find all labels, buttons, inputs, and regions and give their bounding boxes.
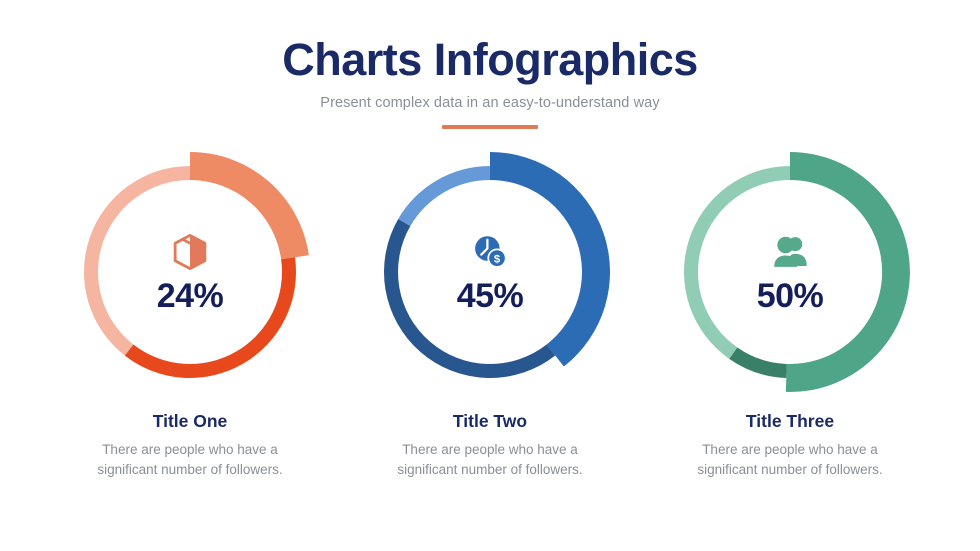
donut-segment-accent[interactable] bbox=[125, 258, 296, 379]
page-title: Charts Infographics bbox=[0, 36, 980, 83]
accent-divider bbox=[442, 125, 538, 129]
donut-segment-highlight[interactable] bbox=[190, 152, 309, 259]
column-two: $ 45% Title Two There are people who hav… bbox=[340, 147, 640, 479]
column-three: 50% Title Three There are people who hav… bbox=[640, 147, 940, 479]
donut-segment-base[interactable] bbox=[684, 166, 790, 359]
donut-chart-one[interactable]: 24% bbox=[65, 147, 315, 397]
column-description-three: There are people who have a significant … bbox=[685, 440, 895, 479]
donut-segment-base[interactable] bbox=[84, 166, 190, 356]
column-one: 24% Title One There are people who have … bbox=[40, 147, 340, 479]
page-subtitle: Present complex data in an easy-to-under… bbox=[0, 95, 980, 111]
donut-segment-base[interactable] bbox=[398, 166, 490, 226]
donut-segments-one bbox=[84, 152, 309, 378]
column-description-one: There are people who have a significant … bbox=[85, 440, 295, 479]
column-description-two: There are people who have a significant … bbox=[385, 440, 595, 479]
donut-svg-one bbox=[65, 147, 315, 397]
column-title-three: Title Three bbox=[746, 411, 834, 432]
donut-segment-highlight[interactable] bbox=[786, 152, 910, 392]
donut-segment-accent[interactable] bbox=[384, 219, 555, 378]
donut-segment-highlight[interactable] bbox=[490, 152, 610, 367]
column-title-two: Title Two bbox=[453, 411, 527, 432]
donut-segments-three bbox=[684, 152, 910, 392]
donut-columns: 24% Title One There are people who have … bbox=[0, 147, 980, 479]
donut-chart-two[interactable]: $ 45% bbox=[365, 147, 615, 397]
slide-header: Charts Infographics Present complex data… bbox=[0, 0, 980, 129]
infographic-slide: Charts Infographics Present complex data… bbox=[0, 0, 980, 551]
donut-svg-two bbox=[365, 147, 615, 397]
donut-chart-three[interactable]: 50% bbox=[665, 147, 915, 397]
donut-segment-accent[interactable] bbox=[729, 348, 787, 379]
column-title-one: Title One bbox=[153, 411, 228, 432]
donut-segments-two bbox=[384, 152, 610, 378]
donut-svg-three bbox=[665, 147, 915, 397]
